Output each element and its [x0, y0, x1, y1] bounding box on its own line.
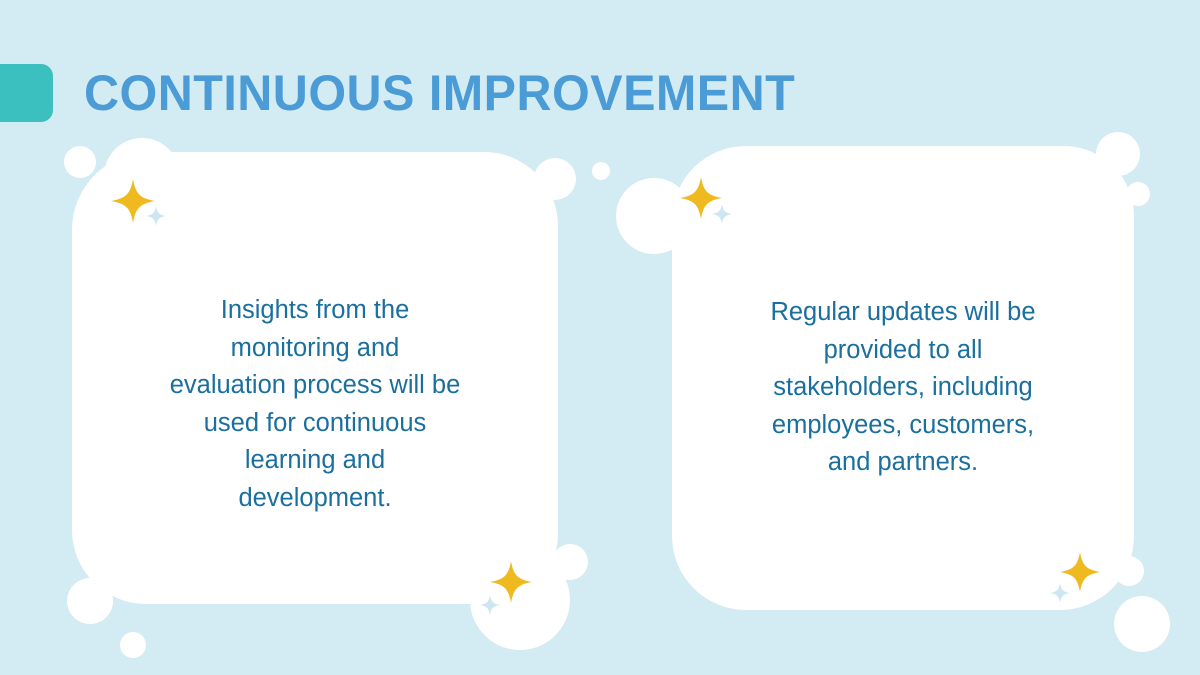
decorative-bubble: [552, 544, 588, 580]
content-card-right: Regular updates will be provided to all …: [672, 146, 1134, 610]
decorative-bubble: [67, 578, 113, 624]
sparkle-pale-icon: [1050, 582, 1070, 604]
sparkle-pale-icon: [712, 203, 732, 225]
sparkle-pale-icon: [480, 594, 500, 616]
title-accent-square: [0, 64, 53, 122]
decorative-bubble: [592, 162, 610, 180]
decorative-bubble: [1114, 556, 1144, 586]
card-right-text: Regular updates will be provided to all …: [672, 294, 1134, 482]
slide-canvas: Insights from the monitoring and evaluat…: [0, 0, 1200, 675]
decorative-bubble: [120, 632, 146, 658]
decorative-bubble: [1114, 596, 1170, 652]
page-title: CONTINUOUS IMPROVEMENT: [84, 58, 795, 128]
card-left-text: Insights from the monitoring and evaluat…: [72, 292, 558, 517]
sparkle-pale-icon: [146, 205, 166, 227]
decorative-bubble: [64, 146, 96, 178]
